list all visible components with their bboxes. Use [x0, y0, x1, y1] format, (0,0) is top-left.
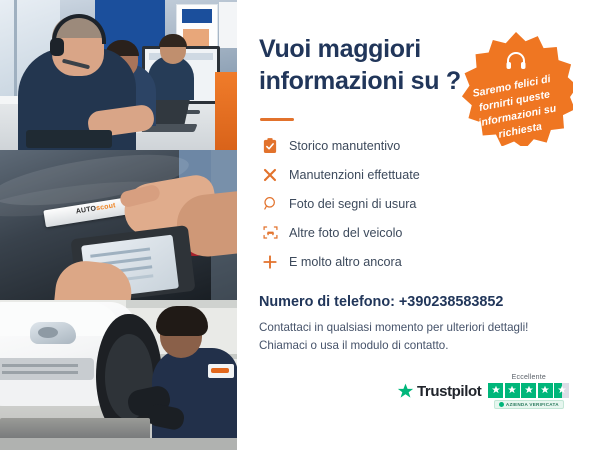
- trustpilot-wordmark: Trustpilot: [417, 383, 481, 400]
- orange-panel-decor: [215, 72, 237, 150]
- title-divider: [260, 118, 294, 121]
- scan-car-icon: [259, 225, 281, 240]
- plus-icon: [259, 254, 281, 270]
- trustpilot-rating: Eccellente: [488, 374, 569, 409]
- photo-call-centre: [0, 0, 237, 150]
- feature-item-foto-usura[interactable]: Foto dei segni di usura: [259, 190, 474, 217]
- window-mullion-decor: [14, 0, 17, 110]
- vehicle-info-advert: AUTOscout: [0, 0, 600, 450]
- magnifier-icon: [259, 196, 281, 211]
- headset-icon: [503, 49, 529, 73]
- star-rating: [488, 383, 569, 398]
- trustpilot-logo: Trustpilot: [397, 383, 481, 400]
- wall-poster-secondary-decor: [219, 2, 237, 48]
- feature-item-manutenzioni[interactable]: Manutenzioni effettuate: [259, 161, 474, 188]
- feature-label: Manutenzioni effettuate: [281, 168, 420, 182]
- feature-item-altre-foto[interactable]: Altre foto del veicolo: [259, 219, 474, 246]
- feature-label: Storico manutentivo: [281, 139, 400, 153]
- feature-item-storico[interactable]: Storico manutentivo: [259, 132, 474, 159]
- callout-badge: Saremo felici di fornirti queste informa…: [459, 32, 573, 146]
- feature-list: Storico manutentivo Manutenzioni effettu…: [259, 132, 474, 277]
- star-filled: [505, 383, 520, 398]
- feature-label: Altre foto del veicolo: [281, 226, 402, 240]
- rating-label: Eccellente: [512, 374, 546, 381]
- car-headlight-decor: [30, 322, 76, 344]
- feature-label: E molto altro ancora: [281, 255, 402, 269]
- car-lift-decor: [0, 418, 150, 440]
- content-panel: Vuoi maggiori informazioni su ? Saremo f…: [237, 0, 600, 450]
- feature-item-altro-ancora[interactable]: E molto altro ancora: [259, 248, 474, 275]
- verified-label: AZIENDA VERIFICATA: [506, 402, 559, 407]
- workshop-floor-decor: [0, 438, 237, 450]
- star-filled: [538, 383, 553, 398]
- photo-car-inspection: AUTOscout: [0, 150, 237, 300]
- trustpilot-widget[interactable]: Trustpilot Eccellente: [397, 374, 569, 409]
- car-bumper-decor: [0, 380, 104, 406]
- contact-text: Contattaci in qualsiasi momento per ulte…: [259, 319, 579, 354]
- page-title: Vuoi maggiori informazioni su ?: [259, 34, 474, 97]
- star-filled: [521, 383, 536, 398]
- photo-column: AUTOscout: [0, 0, 237, 450]
- uniform-logo-decor: [208, 364, 234, 378]
- verified-check-icon: [499, 402, 504, 407]
- phone-number-line[interactable]: Numero di telefono: +390238583852: [259, 294, 503, 310]
- car-grille-decor: [0, 358, 94, 380]
- contact-line-1: Contattaci in qualsiasi momento per ulte…: [259, 319, 579, 337]
- mechanic-hair-decor: [156, 306, 208, 336]
- star-half: [554, 383, 569, 398]
- headset-earcup-decor: [50, 38, 64, 56]
- clipboard-check-icon: [259, 138, 281, 154]
- wrench-cross-icon: [259, 167, 281, 183]
- star-filled: [488, 383, 503, 398]
- photo-wheel-check: [0, 300, 237, 450]
- trustpilot-star-icon: [397, 383, 414, 400]
- contact-line-2: Chiamaci o usa il modulo di contatto.: [259, 337, 579, 355]
- feature-label: Foto dei segni di usura: [281, 197, 416, 211]
- verified-company-badge: AZIENDA VERIFICATA: [494, 400, 564, 409]
- desk-mat-decor: [26, 130, 112, 148]
